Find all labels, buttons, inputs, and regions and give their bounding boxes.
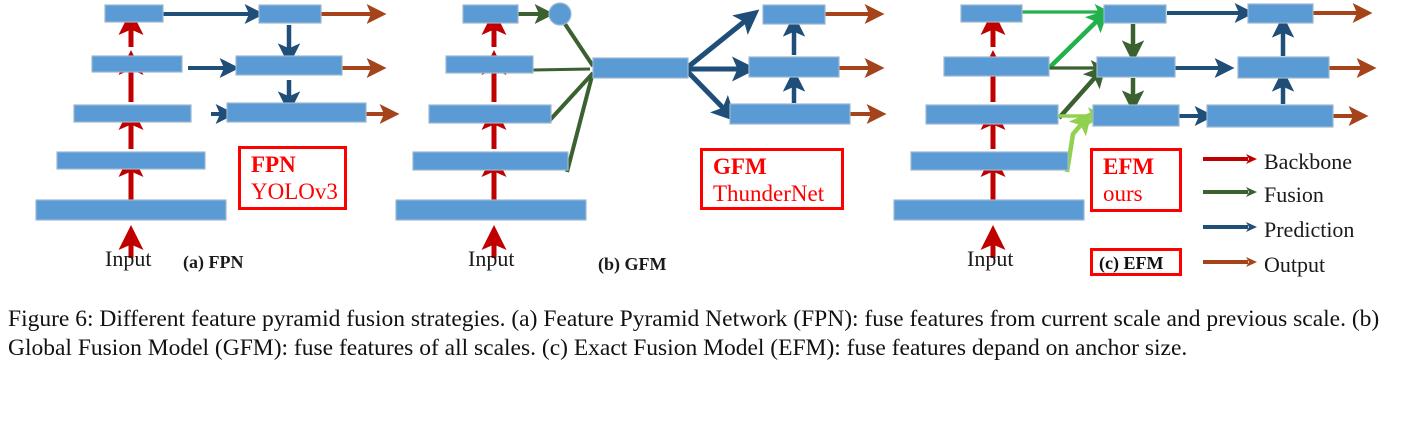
efm-backbone-blocks xyxy=(894,5,1084,220)
efm-prediction-arrows xyxy=(1167,13,1245,116)
efm-tag-subtitle: ours xyxy=(1103,181,1143,207)
efm-panel-caption-box: (c) EFM xyxy=(1090,248,1182,276)
gfm-tag-subtitle: ThunderNet xyxy=(713,181,824,207)
efm-panel-caption: (c) EFM xyxy=(1099,253,1163,274)
panel-gfm: Input (b) GFM GFM ThunderNet xyxy=(385,0,890,295)
fpn-tag-subtitle: YOLOv3 xyxy=(251,179,338,205)
figure-caption: Figure 6: Different feature pyramid fusi… xyxy=(8,305,1408,362)
efm-tag-box: EFM ours xyxy=(1090,148,1182,212)
backbone-arrow-icon xyxy=(1202,153,1258,165)
fusion-arrow-icon xyxy=(1202,186,1258,198)
efm-head-blocks xyxy=(1207,4,1333,127)
gfm-head-blocks xyxy=(730,5,850,124)
fpn-input-label: Input xyxy=(105,246,151,272)
legend: Backbone Fusion Prediction xyxy=(1202,143,1412,273)
efm-input-label: Input xyxy=(967,246,1013,272)
fpn-tag-title: FPN xyxy=(251,152,296,178)
gfm-fusion-edges xyxy=(518,14,593,172)
gfm-global-node xyxy=(549,3,571,25)
output-arrow-icon xyxy=(1202,256,1258,268)
gfm-input-label: Input xyxy=(468,246,514,272)
fpn-fused-blocks xyxy=(227,5,366,122)
gfm-hub-block xyxy=(593,58,688,78)
fpn-panel-caption: (a) FPN xyxy=(183,252,243,273)
efm-tag-title: EFM xyxy=(1103,154,1154,180)
gfm-prediction-edges xyxy=(688,17,750,113)
panel-fpn: Input (a) FPN FPN YOLOv3 xyxy=(0,0,420,295)
legend-label-backbone: Backbone xyxy=(1264,149,1352,175)
fpn-graphic xyxy=(0,0,420,295)
figure-root: Input (a) FPN FPN YOLOv3 xyxy=(0,0,1415,424)
prediction-arrow-icon xyxy=(1202,221,1258,233)
legend-label-fusion: Fusion xyxy=(1264,182,1324,208)
gfm-tag-title: GFM xyxy=(713,154,767,180)
legend-label-output: Output xyxy=(1264,252,1325,278)
figure-diagram: Input (a) FPN FPN YOLOv3 xyxy=(0,0,1415,295)
gfm-tag-box: GFM ThunderNet xyxy=(700,148,844,210)
gfm-panel-caption: (b) GFM xyxy=(598,254,666,275)
panel-efm: Input EFM ours (c) EFM Backbone xyxy=(885,0,1415,295)
fpn-tag-box: FPN YOLOv3 xyxy=(238,146,347,210)
efm-fused-blocks xyxy=(1093,5,1179,126)
legend-label-prediction: Prediction xyxy=(1264,217,1354,243)
